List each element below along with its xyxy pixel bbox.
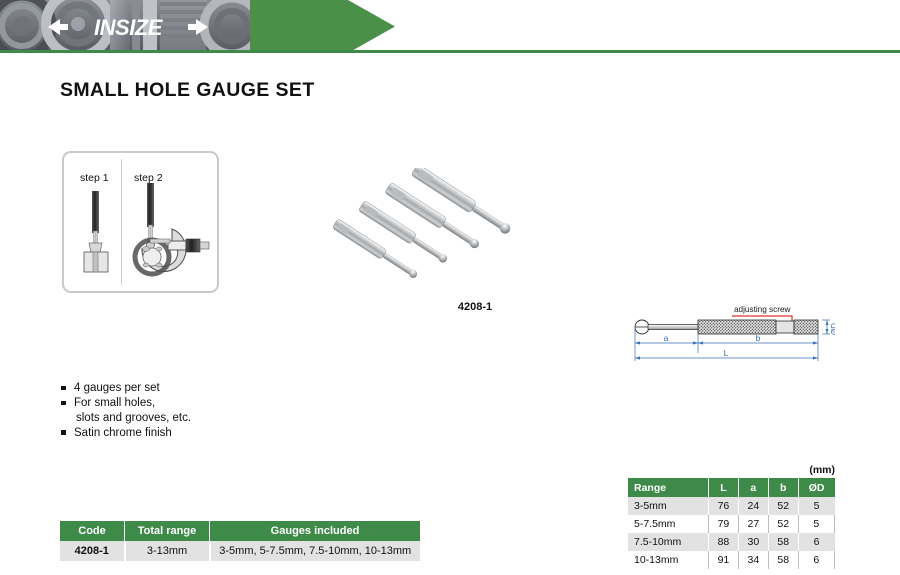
adjusting-screw-annotation: adjusting screw	[734, 305, 791, 314]
feature-text: For small holes,	[74, 397, 155, 409]
step-illustration	[64, 153, 221, 295]
column-header-b: b	[768, 478, 798, 497]
green-chevron-decoration	[250, 0, 395, 53]
cell-range: 5-7.5mm	[628, 515, 709, 533]
table-row: 5-7.5mm 79 27 52 5	[628, 515, 835, 533]
feature-item: Satin chrome finish	[60, 426, 320, 441]
cell-total-range: 3-13mm	[125, 541, 210, 561]
cell-b: 58	[768, 533, 798, 551]
dimension-a-label: a	[664, 333, 669, 343]
cell-L: 88	[709, 533, 739, 551]
table-row: 10-13mm 91 34 58 6	[628, 551, 835, 569]
cell-gauges-included: 3-5mm, 5-7.5mm, 7.5-10mm, 10-13mm	[210, 541, 421, 561]
table-row: 3-5mm 76 24 52 5	[628, 497, 835, 515]
ordering-table: Code Total range Gauges included 4208-1 …	[60, 521, 420, 561]
column-header-range: Range	[628, 478, 709, 497]
table-header-row: Range L a b ØD	[628, 478, 835, 497]
cell-D: 5	[798, 497, 834, 515]
feature-item: 4 gauges per set	[60, 381, 320, 396]
cell-D: 6	[798, 533, 834, 551]
page-header: INSIZE	[0, 0, 900, 53]
cell-D: 6	[798, 551, 834, 569]
cell-L: 91	[709, 551, 739, 569]
feature-list: 4 gauges per set For small holes, slots …	[60, 381, 320, 441]
dimension-D-label: ØD	[830, 323, 835, 335]
unit-label: (mm)	[809, 464, 835, 476]
column-header-code: Code	[60, 521, 125, 541]
svg-text:INSIZE: INSIZE	[94, 15, 164, 40]
column-header-total-range: Total range	[125, 521, 210, 541]
dimension-b-label: b	[756, 333, 761, 343]
technical-drawing: adjusting screw a b L ØD	[630, 303, 835, 375]
table-row: 4208-1 3-13mm 3-5mm, 5-7.5mm, 7.5-10mm, …	[60, 541, 420, 561]
cell-a: 30	[738, 533, 768, 551]
column-header-a: a	[738, 478, 768, 497]
page-title: SMALL HOLE GAUGE SET	[60, 79, 315, 102]
column-header-D: ØD	[798, 478, 834, 497]
dimension-table: Range L a b ØD 3-5mm 76 24 52 5 5-7.5mm …	[628, 478, 835, 569]
cell-D: 5	[798, 515, 834, 533]
cell-range: 10-13mm	[628, 551, 709, 569]
table-header-row: Code Total range Gauges included	[60, 521, 420, 541]
product-photo	[320, 168, 560, 296]
bullet-icon	[61, 401, 66, 406]
cell-b: 52	[768, 515, 798, 533]
feature-subtext: slots and grooves, etc.	[74, 411, 320, 426]
cell-a: 27	[738, 515, 768, 533]
column-header-gauges-included: Gauges included	[210, 521, 421, 541]
cell-range: 3-5mm	[628, 497, 709, 515]
insize-logo: INSIZE	[48, 14, 208, 40]
feature-text: Satin chrome finish	[74, 427, 172, 439]
cell-b: 58	[768, 551, 798, 569]
table-row: 7.5-10mm 88 30 58 6	[628, 533, 835, 551]
cell-a: 34	[738, 551, 768, 569]
feature-item: For small holes, slots and grooves, etc.	[60, 396, 320, 425]
cell-code: 4208-1	[60, 541, 125, 561]
cell-L: 79	[709, 515, 739, 533]
product-code-label: 4208-1	[458, 301, 492, 313]
usage-step-diagram: step 1 step 2	[62, 151, 219, 293]
cell-a: 24	[738, 497, 768, 515]
cell-b: 52	[768, 497, 798, 515]
bullet-icon	[61, 386, 66, 391]
feature-text: 4 gauges per set	[74, 382, 160, 394]
bullet-icon	[61, 430, 66, 435]
header-green-rule	[0, 50, 900, 53]
dimension-L-label: L	[724, 348, 729, 358]
cell-range: 7.5-10mm	[628, 533, 709, 551]
cell-L: 76	[709, 497, 739, 515]
column-header-L: L	[709, 478, 739, 497]
